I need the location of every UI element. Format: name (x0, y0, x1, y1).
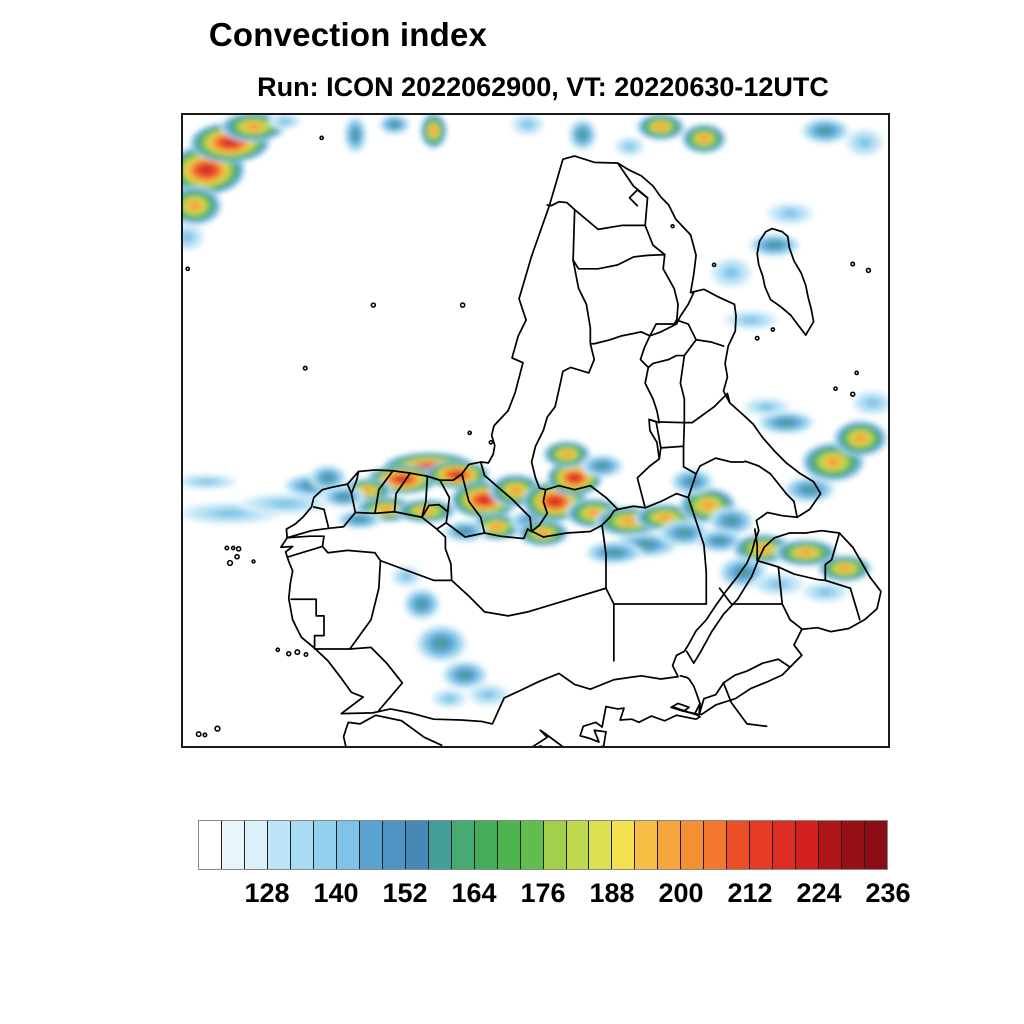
colorbar-swatches (198, 820, 888, 870)
colorbar-tick-label: 212 (727, 878, 772, 909)
colorbar-segment (498, 821, 521, 869)
x-tick-10w (340, 746, 342, 748)
colorbar-segment (521, 821, 544, 869)
colorbar-tick-label: 176 (520, 878, 565, 909)
convection-field (183, 115, 888, 710)
italy-coastline (477, 730, 563, 746)
x-tick-0 (418, 746, 420, 748)
colorbar-tick-label: 140 (313, 878, 358, 909)
y-tick-20n (181, 273, 183, 275)
colorbar-segment (658, 821, 681, 869)
colorbar-segment (337, 821, 360, 869)
colorbar-segment (222, 821, 245, 869)
balkans-greece-turkey-coastline (524, 703, 700, 746)
colorbar-segment (199, 821, 222, 869)
colorbar-segment (773, 821, 796, 869)
colorbar (198, 820, 888, 870)
colorbar-segment (589, 821, 612, 869)
map-canvas (183, 115, 888, 746)
page-subtitle: Run: ICON 2022062900, VT: 20220630-12UTC (31, 72, 1024, 103)
x-tick-30w (183, 746, 185, 748)
colorbar-tick-label: 188 (589, 878, 634, 909)
map-plot-area: 30N 0 30S 30W 0 30E 60E (181, 113, 890, 748)
colorbar-segment (750, 821, 773, 869)
y-tick-30n (181, 214, 183, 216)
colorbar-segment (796, 821, 819, 869)
colorbar-tick-label: 236 (865, 878, 910, 909)
colorbar-segment (612, 821, 635, 869)
colorbar-segment (268, 821, 291, 869)
colorbar-segment (727, 821, 750, 869)
cyprus-coastline (671, 703, 689, 711)
colorbar-segment (475, 821, 498, 869)
x-tick-20w (261, 746, 263, 748)
colorbar-tick-label: 152 (382, 878, 427, 909)
colorbar-tick-label: 128 (244, 878, 289, 909)
x-tick-50e (810, 746, 812, 748)
x-tick-30e (653, 746, 655, 748)
y-tick-30s (181, 647, 183, 649)
x-tick-10e (496, 746, 498, 748)
colorbar-tick-label: 164 (451, 878, 496, 909)
colorbar-segment (842, 821, 865, 869)
colorbar-segment (406, 821, 429, 869)
colorbar-segment (865, 821, 887, 869)
coastline-layer (186, 136, 881, 746)
iberia-coastline (344, 715, 443, 746)
colorbar-segment (360, 821, 383, 869)
colorbar-tick-label: 224 (796, 878, 841, 909)
colorbar-segment (383, 821, 406, 869)
colorbar-segment (681, 821, 704, 869)
colorbar-segment (704, 821, 727, 869)
colorbar-tick-label: 200 (658, 878, 703, 909)
y-tick-10s (181, 509, 183, 511)
x-tick-40e (731, 746, 733, 748)
x-tick-60e (888, 746, 890, 748)
colorbar-segment (635, 821, 658, 869)
colorbar-segment (544, 821, 567, 869)
colorbar-segment (452, 821, 475, 869)
levant-coastline (680, 676, 701, 715)
colorbar-segment (245, 821, 268, 869)
y-tick-20s (181, 588, 183, 590)
page-title: Convection index (0, 16, 860, 54)
island-features (186, 136, 870, 736)
colorbar-segment (314, 821, 337, 869)
colorbar-segment (567, 821, 590, 869)
x-tick-20e (575, 746, 577, 748)
colorbar-segment (819, 821, 842, 869)
africa-coastline (281, 156, 821, 724)
colorbar-segment (429, 821, 452, 869)
y-tick-0 (181, 431, 183, 433)
colorbar-labels: 128140152164176188200212224236 (198, 878, 888, 918)
y-tick-10n (181, 352, 183, 354)
colorbar-segment (291, 821, 314, 869)
